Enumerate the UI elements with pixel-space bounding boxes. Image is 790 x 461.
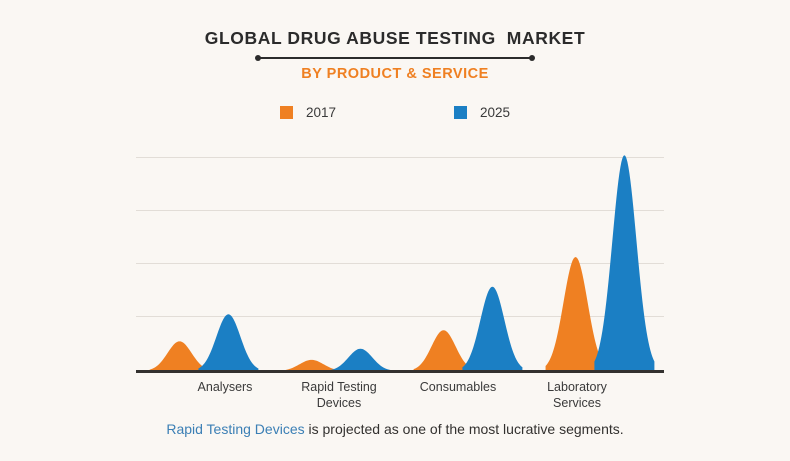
category-label-laboratory-services: Laboratory Services [531,379,623,411]
page-title: GLOBAL DRUG ABUSE TESTING MARKET [0,28,790,49]
caption-highlight: Rapid Testing Devices [166,421,304,437]
peak-2017-consumables [414,330,474,371]
peak-2017-analysers [150,341,210,371]
divider-rule [260,57,530,59]
legend-item-2025: 2025 [454,105,510,120]
title-divider [255,53,535,63]
legend-item-2017: 2017 [280,105,336,120]
chart-caption: Rapid Testing Devices is projected as on… [0,421,790,437]
category-label-consumables: Consumables [398,379,518,395]
chart-legend: 2017 2025 [0,105,790,120]
plot-area [136,150,664,378]
axis-baseline [136,370,664,373]
peak-2025-rapid-testing-devices [330,349,390,371]
legend-swatch-2017 [280,106,293,119]
chart-card: GLOBAL DRUG ABUSE TESTING MARKET BY PROD… [0,0,790,461]
legend-swatch-2025 [454,106,467,119]
peak-2025-laboratory-services [594,155,654,371]
divider-dot-right [529,55,535,61]
data-peaks [136,150,664,371]
peak-2025-consumables [462,287,522,371]
legend-label-2017: 2017 [306,105,336,120]
page-subtitle: BY PRODUCT & SERVICE [0,66,790,82]
category-label-rapid-testing-devices: Rapid Testing Devices [293,379,385,411]
peak-2017-laboratory-services [546,257,606,371]
category-label-analysers: Analysers [165,379,285,395]
legend-label-2025: 2025 [480,105,510,120]
caption-rest: is projected as one of the most lucrativ… [305,421,624,437]
peak-2025-analysers [198,314,258,371]
category-axis: Analysers Rapid Testing Devices Consumab… [136,379,664,419]
